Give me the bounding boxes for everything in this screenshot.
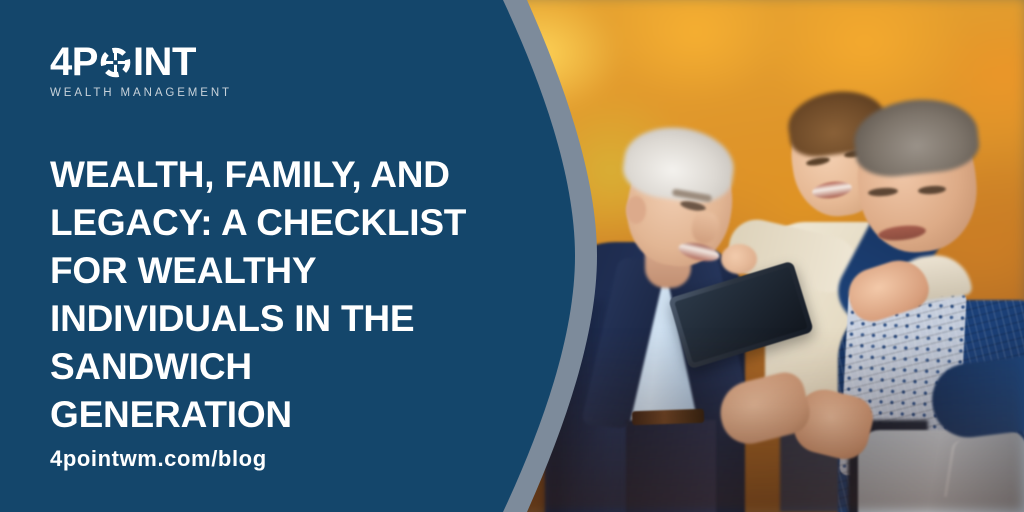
headline-line-6: GENERATION xyxy=(50,391,530,439)
boy-hand xyxy=(721,244,757,274)
elder-ear xyxy=(626,196,646,224)
logo-suffix-text: INT xyxy=(133,42,196,82)
headline-line-4: INDIVIDUALS IN THE xyxy=(50,295,530,343)
brand-logo[interactable]: 4P INT WEALTH MANAGEMENT xyxy=(50,42,270,99)
page-title: WEALTH, FAMILY, AND LEGACY: A CHECKLIST … xyxy=(50,151,530,439)
headline-line-3: FOR WEALTHY xyxy=(50,247,530,295)
logo-tagline: WEALTH MANAGEMENT xyxy=(50,87,270,99)
headline-line-5: SANDWICH xyxy=(50,343,530,391)
blog-url-link[interactable]: 4pointwm.com/blog xyxy=(50,446,267,472)
blog-promo-banner: 4P INT WEALTH MANAGEMENT WEALTH, FAMILY,… xyxy=(0,0,1024,512)
headline-line-1: WEALTH, FAMILY, AND xyxy=(50,151,530,199)
banner-content: 4P INT WEALTH MANAGEMENT WEALTH, FAMILY,… xyxy=(0,0,540,512)
headline-line-2: LEGACY: A CHECKLIST xyxy=(50,199,530,247)
logo-prefix-text: 4P xyxy=(50,42,98,82)
target-crosshair-icon xyxy=(99,46,132,79)
logo-wordmark: 4P INT xyxy=(50,42,270,82)
